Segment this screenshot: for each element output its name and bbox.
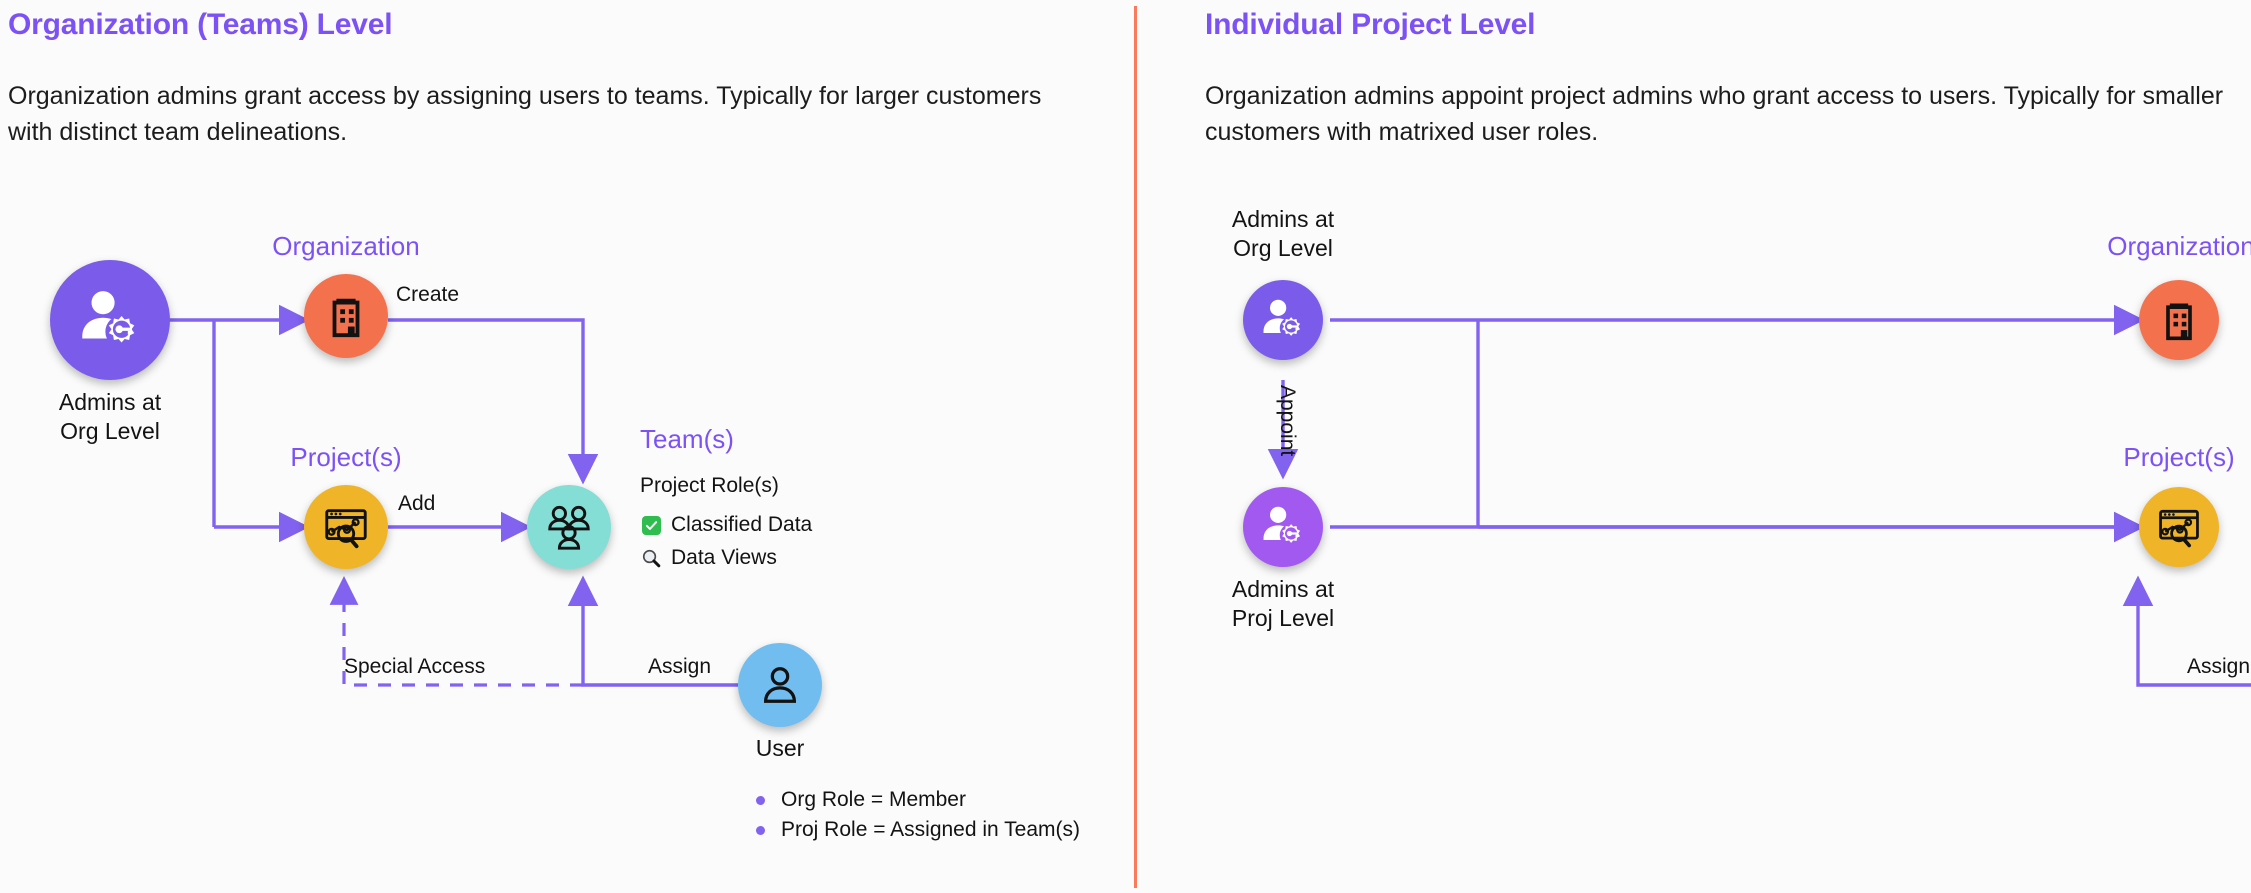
check-box-icon xyxy=(640,514,662,536)
panel-description: Organization admins grant access by assi… xyxy=(8,78,1068,150)
individual-project-panel: Individual Project Level Organization ad… xyxy=(1135,0,2251,893)
role-label: Classified Data xyxy=(671,513,812,537)
edge-label-special-access: Special Access xyxy=(344,655,485,679)
team-people-icon xyxy=(543,501,595,553)
node-project[interactable] xyxy=(304,485,388,569)
building-icon xyxy=(323,293,369,339)
bullet-dot xyxy=(756,796,765,805)
project-analytics-icon xyxy=(2155,503,2203,551)
node-label-project: Project(s) xyxy=(2069,443,2251,472)
node-label-admins-org-level: Admins at Org Level xyxy=(1193,205,1373,263)
node-label-admins-proj-level: Admins at Proj Level xyxy=(1193,575,1373,633)
edge-label-appoint: Appoint xyxy=(1275,385,1299,456)
node-label-organization: Organization xyxy=(2061,232,2251,261)
page-title: Individual Project Level xyxy=(1205,8,1535,42)
admin-key-gear-icon xyxy=(1257,294,1309,346)
node-label-organization: Organization xyxy=(226,232,466,261)
user-roles-list: Org Role = Member Proj Role = Assigned i… xyxy=(756,785,1080,845)
edge-label-assign: Assign xyxy=(2187,655,2250,679)
role-label: Data Views xyxy=(671,546,777,570)
node-organization[interactable] xyxy=(2139,280,2219,360)
admin-key-gear-icon xyxy=(73,283,147,357)
role-data-views: Data Views xyxy=(640,546,777,570)
bullet-label: Proj Role = Assigned in Team(s) xyxy=(781,818,1080,842)
node-label-project: Project(s) xyxy=(236,443,456,472)
node-label-user: User xyxy=(730,734,830,763)
node-admins-org-level[interactable] xyxy=(1243,280,1323,360)
node-user[interactable] xyxy=(738,643,822,727)
page-title: Organization (Teams) Level xyxy=(8,8,392,42)
bullet-dot xyxy=(756,826,765,835)
building-icon xyxy=(2157,298,2201,342)
role-classified-data: Classified Data xyxy=(640,513,812,537)
diagram-canvas: Organization (Teams) Level Organization … xyxy=(0,0,2251,893)
organization-teams-panel: Organization (Teams) Level Organization … xyxy=(0,0,1135,893)
bullet-label: Org Role = Member xyxy=(781,788,966,812)
list-item: Proj Role = Assigned in Team(s) xyxy=(756,815,1080,845)
node-admins-org-level[interactable] xyxy=(50,260,170,380)
edge-label-create: Create xyxy=(396,283,459,307)
magnifier-icon xyxy=(640,547,662,569)
node-team[interactable] xyxy=(527,485,611,569)
user-person-icon xyxy=(757,662,803,708)
project-analytics-icon xyxy=(321,502,371,552)
panel-description: Organization admins appoint project admi… xyxy=(1205,78,2235,150)
node-label-team: Team(s) xyxy=(640,425,840,454)
admin-key-gear-icon xyxy=(1257,501,1309,553)
team-project-roles-title: Project Role(s) xyxy=(640,474,779,498)
node-project[interactable] xyxy=(2139,487,2219,567)
node-admins-proj-level[interactable] xyxy=(1243,487,1323,567)
edge-label-add: Add xyxy=(398,492,435,516)
edge-label-assign: Assign xyxy=(648,655,711,679)
node-label-admins-org-level: Admins at Org Level xyxy=(20,388,200,446)
list-item: Org Role = Member xyxy=(756,785,1080,815)
node-organization[interactable] xyxy=(304,274,388,358)
